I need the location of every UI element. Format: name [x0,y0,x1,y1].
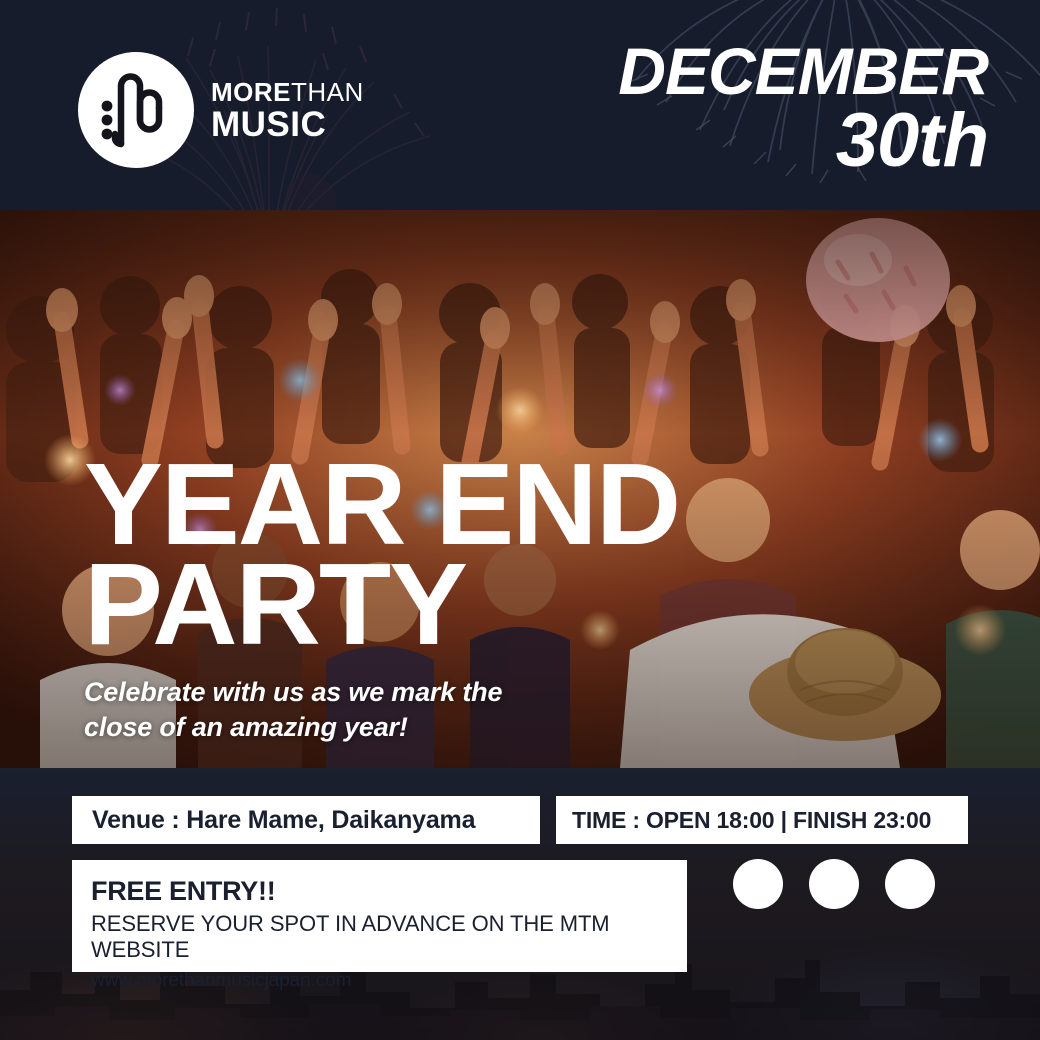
social-circle-3-icon[interactable] [885,859,935,909]
hero-photo: YEAR END PARTY Celebrate with us as we m… [0,210,1040,768]
mtm-waveform-logo-icon [78,52,194,168]
brand-wordmark: MORETHAN MUSIC [211,79,364,142]
poster-header: MORETHAN MUSIC DECEMBER 30th [0,0,1040,210]
event-date: DECEMBER 30th [618,40,988,178]
free-entry-headline: FREE ENTRY!! [91,876,687,907]
entry-info-box: FREE ENTRY!! RESERVE YOUR SPOT IN ADVANC… [72,860,687,972]
hero-title: YEAR END PARTY [84,455,679,655]
hero-subtitle-line2: close of an amazing year! [84,712,408,742]
time-text: TIME : OPEN 18:00 | FINISH 23:00 [572,807,931,834]
hero-subtitle: Celebrate with us as we mark the close o… [84,675,604,746]
hero-copy: YEAR END PARTY Celebrate with us as we m… [84,455,667,746]
social-links [733,859,935,909]
venue-bar: Venue : Hare Mame, Daikanyama [72,796,540,844]
event-date-month: DECEMBER [618,40,988,103]
brand-logo[interactable]: MORETHAN MUSIC [78,52,364,168]
reserve-instruction: RESERVE YOUR SPOT IN ADVANCE ON THE MTM … [91,911,687,963]
website-url[interactable]: www.morethanmusicjapan.com [91,970,687,992]
brand-music: MUSIC [211,107,364,142]
social-circle-1-icon[interactable] [733,859,783,909]
event-poster: MORETHAN MUSIC DECEMBER 30th [0,0,1040,1040]
social-circle-2-icon[interactable] [809,859,859,909]
brand-more: MORE [211,77,291,107]
event-date-day: 30th [618,105,988,178]
hero-title-line2: PARTY [84,555,679,655]
brand-than: THAN [291,77,364,107]
time-bar: TIME : OPEN 18:00 | FINISH 23:00 [556,796,968,844]
venue-text: Venue : Hare Mame, Daikanyama [92,806,475,835]
hero-subtitle-line1: Celebrate with us as we mark the [84,677,502,707]
